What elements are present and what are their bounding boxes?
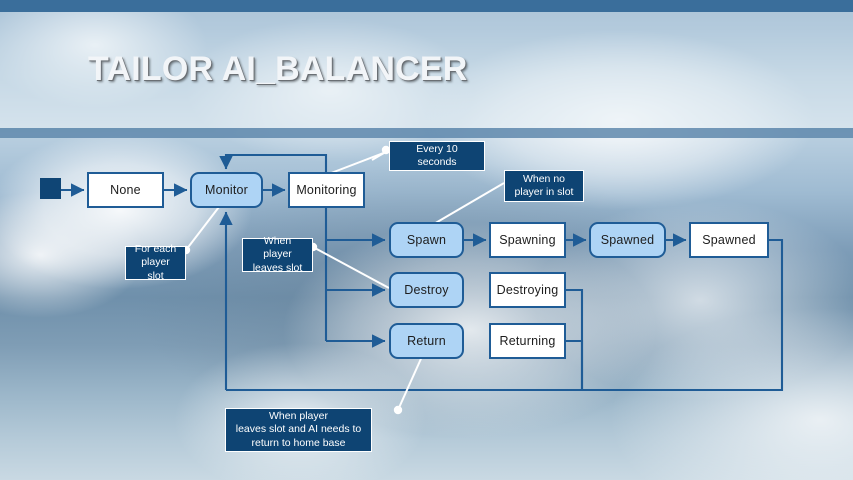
node-spawned-plain[interactable]: Spawned xyxy=(689,222,769,258)
node-spawning[interactable]: Spawning xyxy=(489,222,566,258)
edge-returning-return-rail xyxy=(566,341,582,390)
node-spawned-state[interactable]: Spawned xyxy=(589,222,666,258)
callout-every-10-seconds: Every 10 seconds xyxy=(389,141,485,171)
node-destroying[interactable]: Destroying xyxy=(489,272,566,308)
node-destroy[interactable]: Destroy xyxy=(389,272,464,308)
callout-return-to-home-base: When player leaves slot and AI needs to … xyxy=(225,408,372,452)
node-returning[interactable]: Returning xyxy=(489,323,566,359)
start-node xyxy=(40,178,61,199)
node-spawn[interactable]: Spawn xyxy=(389,222,464,258)
slide-canvas: TAILOR AI_BALANCER xyxy=(0,0,853,480)
callout-text: When no player in slot xyxy=(515,173,574,200)
node-monitoring[interactable]: Monitoring xyxy=(288,172,365,208)
edge-monitoring-loop-top xyxy=(226,155,326,172)
callout-text: When player leaves slot xyxy=(249,235,306,276)
node-none[interactable]: None xyxy=(87,172,164,208)
leader-dot-home-base xyxy=(395,407,401,413)
callout-when-no-player-in-slot: When no player in slot xyxy=(504,170,584,202)
callout-when-player-leaves-slot: When player leaves slot xyxy=(242,238,313,272)
node-return[interactable]: Return xyxy=(389,323,464,359)
callout-text: When player leaves slot and AI needs to … xyxy=(236,410,362,451)
callout-for-each-player-slot: For each player slot xyxy=(125,246,186,280)
callout-text: Every 10 seconds xyxy=(396,143,478,170)
leader-for-each-player-slot xyxy=(186,203,222,250)
node-monitor[interactable]: Monitor xyxy=(190,172,263,208)
leader-when-player-leaves-slot xyxy=(313,247,389,288)
callout-text: For each player slot xyxy=(132,243,179,284)
leader-home-base xyxy=(398,352,424,410)
